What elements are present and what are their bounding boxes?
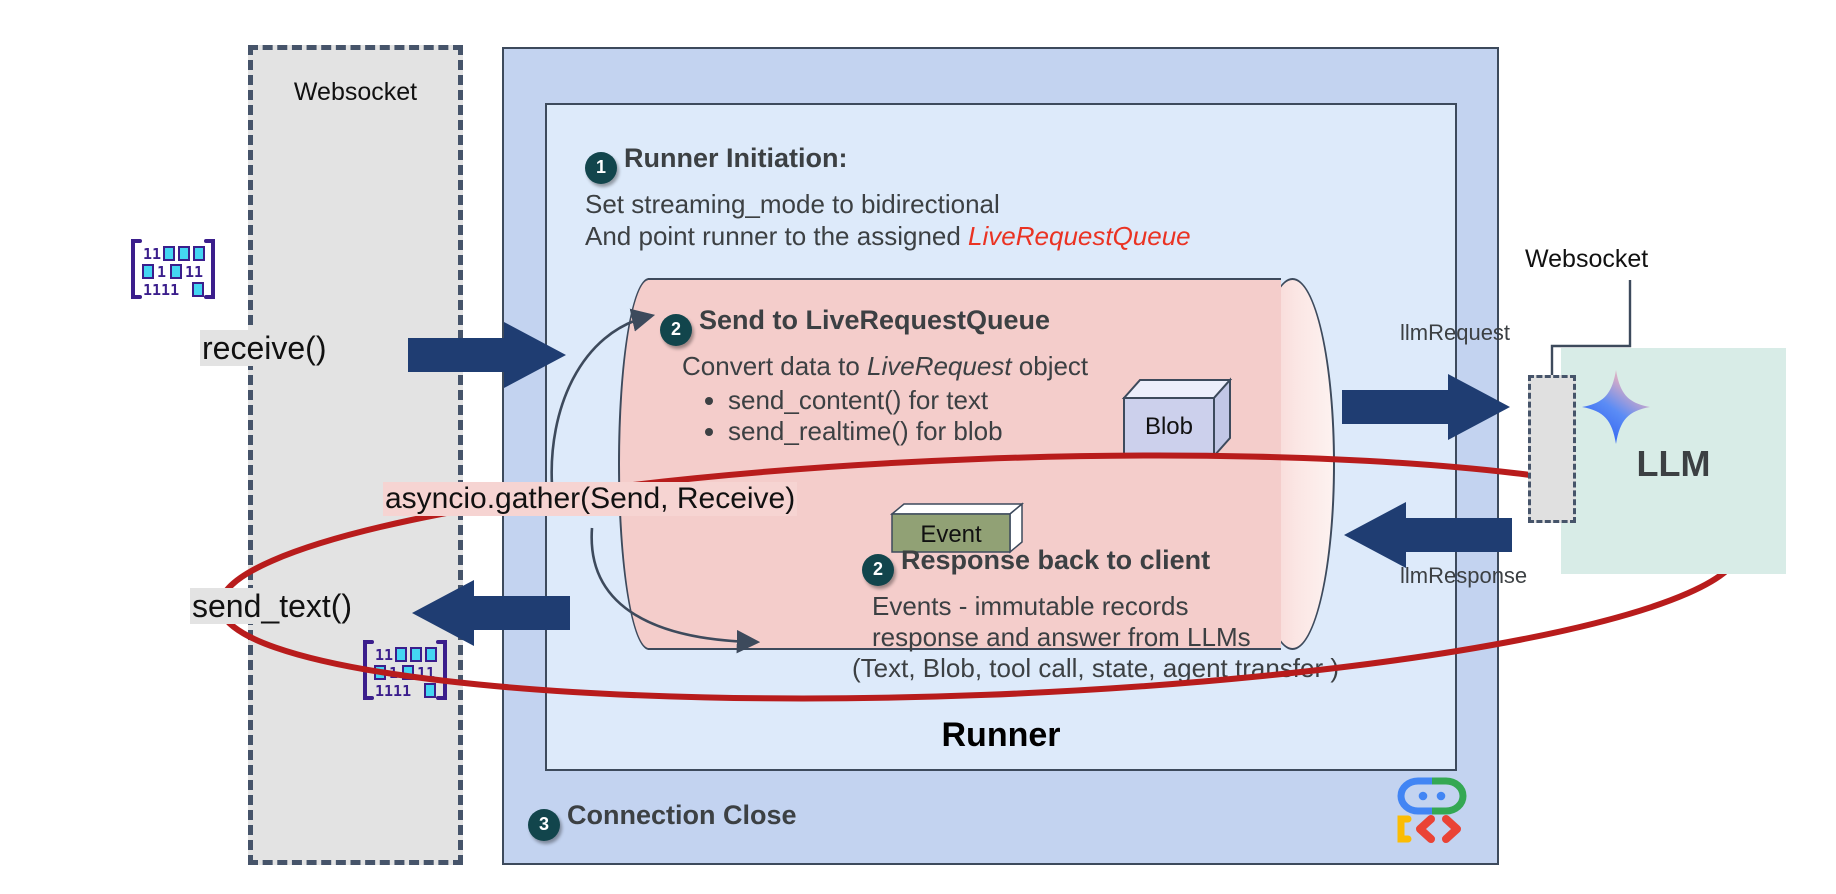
step-3-badge: 3: [528, 809, 560, 841]
step-2-send-line-1-suffix: object: [1012, 351, 1089, 381]
step-2-send-liverequest: LiveRequest: [867, 351, 1012, 381]
gemini-sparkle-icon: [1580, 368, 1652, 446]
step-1-badge: 1: [585, 152, 617, 184]
llm-label: LLM: [1561, 443, 1786, 485]
blob-label: Blob: [1145, 413, 1193, 440]
diagram-canvas: Websocket 11 1 11 1111: [0, 0, 1836, 894]
step-3-connection-close: 3Connection Close: [528, 800, 797, 841]
llm-request-label: llmRequest: [1400, 320, 1510, 346]
step-1-line-1: Set streaming_mode to bidirectional: [585, 190, 1285, 219]
receive-label: receive(): [200, 330, 328, 367]
llm-response-label: llmResponse: [1400, 563, 1527, 589]
svg-text:1111: 1111: [143, 281, 179, 299]
step-1-line-2-prefix: And point runner to the assigned: [585, 221, 968, 251]
svg-text:11: 11: [143, 245, 161, 263]
step-1-heading: Runner Initiation:: [624, 143, 847, 173]
runner-label: Runner: [545, 716, 1457, 755]
asyncio-gather-label: asyncio.gather(Send, Receive): [383, 482, 797, 516]
binary-data-icon: 11 1 11 1111: [130, 237, 216, 301]
receive-label-text: receive(): [200, 330, 328, 366]
llm-request-arrow-icon: [1342, 374, 1512, 440]
step-1-liverequestqueue: LiveRequestQueue: [968, 221, 1191, 251]
step-1-line-2: And point runner to the assigned LiveReq…: [585, 222, 1285, 251]
step-3-heading: Connection Close: [567, 800, 797, 830]
send-text-label: send_text(): [190, 588, 354, 625]
svg-text:11: 11: [185, 263, 203, 281]
svg-text:1: 1: [157, 263, 166, 281]
websocket-server-box: [1528, 375, 1576, 523]
websocket-server-label: Websocket: [1525, 245, 1648, 274]
google-adk-logo: [1396, 775, 1468, 843]
send-text-label-text: send_text(): [190, 588, 354, 624]
websocket-client-label: Websocket: [248, 78, 463, 107]
step-1-runner-initiation: 1Runner Initiation: Set streaming_mode t…: [585, 143, 1285, 251]
